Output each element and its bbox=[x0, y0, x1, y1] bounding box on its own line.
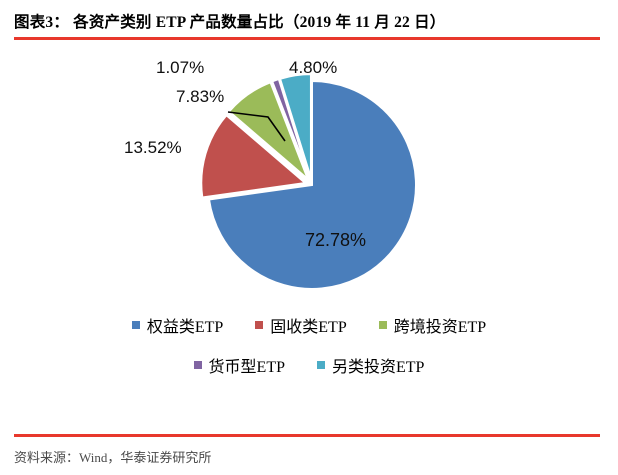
legend-row-2: 货币型ETP另类投资ETP bbox=[0, 345, 618, 385]
legend-item[interactable]: 权益类ETP bbox=[132, 313, 223, 337]
source-note: 资料来源：Wind，华泰证券研究所 bbox=[14, 447, 211, 466]
slice-label-equity: 72.78% bbox=[305, 230, 366, 251]
legend-swatch bbox=[379, 321, 387, 329]
legend-item-label: 权益类ETP bbox=[147, 313, 223, 337]
chart-legend: 权益类ETP固收类ETP跨境投资ETP 货币型ETP另类投资ETP bbox=[0, 305, 618, 385]
slice-label-fixed-income: 13.52% bbox=[124, 138, 182, 158]
slice-label-alternative: 4.80% bbox=[289, 58, 337, 78]
legend-item-label: 跨境投资ETP bbox=[394, 313, 486, 337]
footer-divider bbox=[14, 434, 600, 437]
page-title: 图表3： 各资产类别 ETP 产品数量占比（2019 年 11 月 22 日） bbox=[14, 10, 604, 32]
legend-item[interactable]: 另类投资ETP bbox=[317, 353, 424, 377]
pie-chart-svg bbox=[0, 45, 618, 305]
legend-swatch bbox=[255, 321, 263, 329]
legend-item-label: 固收类ETP bbox=[270, 313, 346, 337]
pie-slice-group bbox=[201, 74, 416, 289]
slice-label-money: 1.07% bbox=[156, 58, 204, 78]
legend-item[interactable]: 固收类ETP bbox=[255, 313, 346, 337]
legend-item[interactable]: 货币型ETP bbox=[194, 353, 285, 377]
legend-item-label: 另类投资ETP bbox=[332, 353, 424, 377]
legend-item-label: 货币型ETP bbox=[209, 353, 285, 377]
chart-header: 图表3： 各资产类别 ETP 产品数量占比（2019 年 11 月 22 日） bbox=[14, 10, 604, 32]
legend-item[interactable]: 跨境投资ETP bbox=[379, 313, 486, 337]
legend-row-1: 权益类ETP固收类ETP跨境投资ETP bbox=[0, 305, 618, 345]
legend-swatch bbox=[194, 361, 202, 369]
pie-chart-plot-area: 72.78% 13.52% 7.83% 1.07% 4.80% bbox=[0, 45, 618, 305]
legend-swatch bbox=[132, 321, 140, 329]
slice-label-cross-border: 7.83% bbox=[176, 87, 224, 107]
legend-swatch bbox=[317, 361, 325, 369]
title-divider bbox=[14, 37, 600, 40]
